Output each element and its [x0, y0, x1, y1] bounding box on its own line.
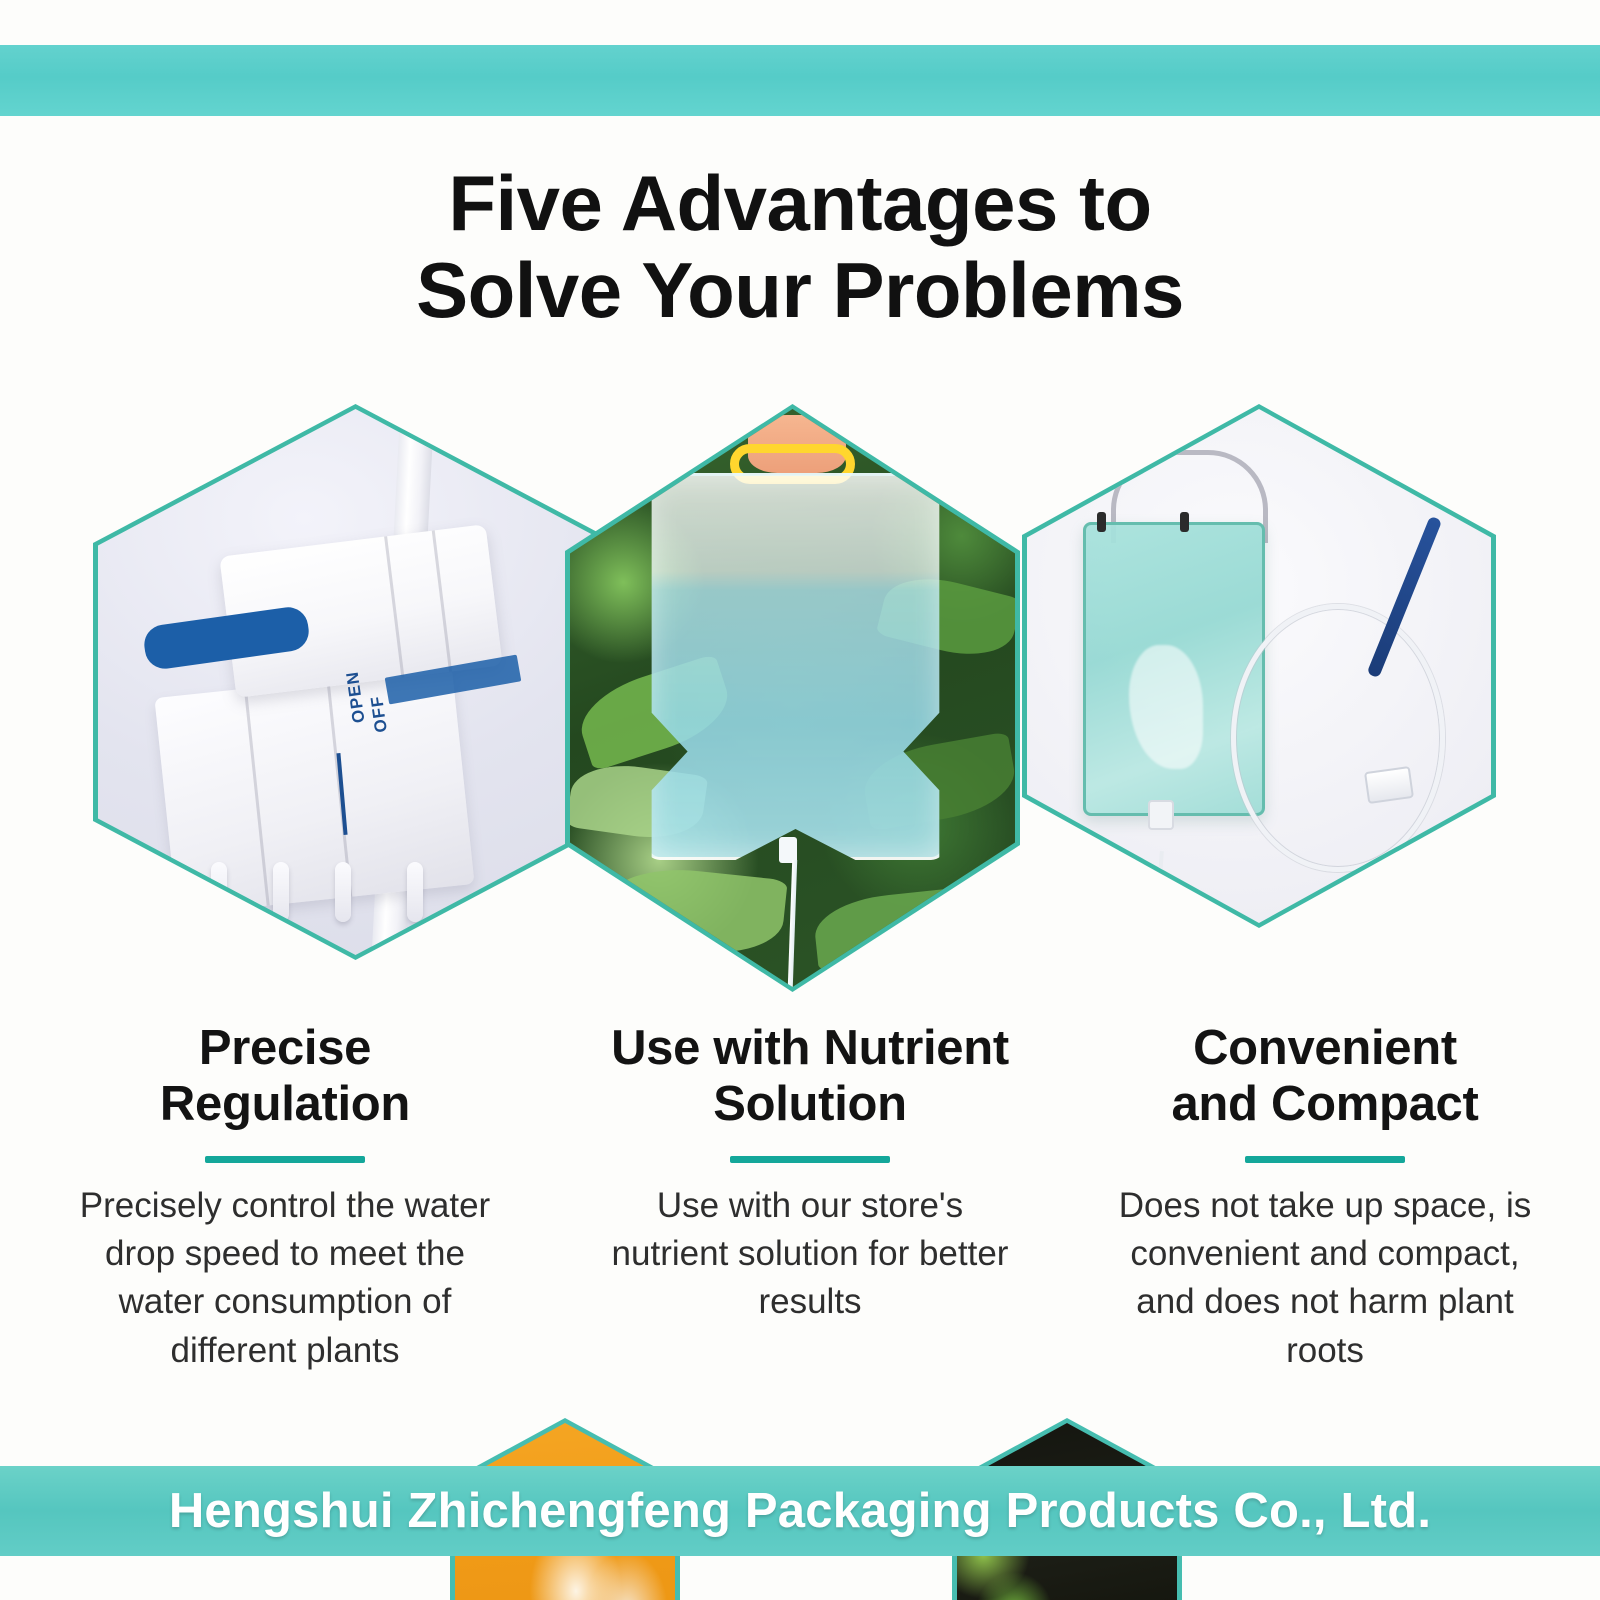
- feature-card-use-with-nutrient-solution: Use with Nutrient Solution Use with our …: [555, 1020, 1065, 1375]
- valve-prong: [211, 862, 227, 922]
- feature-image-precise-regulation[interactable]: OPEN OFF: [93, 404, 618, 960]
- hex-image-clip: OPEN OFF: [98, 409, 613, 955]
- feature-title-line-2: Solution: [595, 1076, 1025, 1132]
- bag-tube-shape: [788, 860, 797, 987]
- feature-description-precise-regulation: Precisely control the water drop speed t…: [70, 1182, 500, 1375]
- leaf-shape: [812, 887, 970, 972]
- headline-line-1: Five Advantages to: [0, 160, 1600, 247]
- bag-spout-shape: [779, 837, 797, 863]
- valve-photo: OPEN OFF: [98, 409, 613, 955]
- feature-description-use-with-nutrient-solution: Use with our store's nutrient solution f…: [595, 1182, 1025, 1327]
- valve-prong: [273, 862, 289, 922]
- feature-image-convenient-and-compact[interactable]: [1022, 404, 1496, 928]
- foliage-photo: [570, 409, 1015, 987]
- page-title: Five Advantages to Solve Your Problems: [0, 160, 1600, 335]
- feature-title-line-2: Regulation: [70, 1076, 500, 1132]
- feature-title-use-with-nutrient-solution: Use with Nutrient Solution: [595, 1020, 1025, 1133]
- company-name: Hengshui Zhichengfeng Packaging Products…: [169, 1483, 1431, 1539]
- feature-title-precise-regulation: Precise Regulation: [70, 1020, 500, 1133]
- drip-kit-photo: [1027, 409, 1491, 923]
- feature-title-line-1: Use with Nutrient: [595, 1020, 1025, 1076]
- feature-title-line-1: Precise: [70, 1020, 500, 1076]
- coiled-tube-shape: [1231, 604, 1444, 871]
- feature-title-line-2: and Compact: [1110, 1076, 1540, 1132]
- water-bag-shape: [646, 473, 946, 860]
- footer-bar: Hengshui Zhichengfeng Packaging Products…: [0, 1466, 1600, 1556]
- feature-list: Precise Regulation Precisely control the…: [0, 1020, 1600, 1375]
- feature-card-convenient-and-compact: Convenient and Compact Does not take up …: [1065, 1020, 1600, 1375]
- title-underline-rule: [730, 1156, 890, 1163]
- title-underline-rule: [1245, 1156, 1405, 1163]
- roller-clamp-shape: [1364, 766, 1414, 804]
- valve-rib: [243, 689, 269, 907]
- feature-title-convenient-and-compact: Convenient and Compact: [1110, 1020, 1540, 1133]
- valve-rib: [432, 530, 452, 671]
- feature-title-line-1: Convenient: [1110, 1020, 1540, 1076]
- leaf-shape: [602, 862, 787, 961]
- feature-description-convenient-and-compact: Does not take up space, is convenient an…: [1110, 1182, 1540, 1375]
- valve-prong: [335, 862, 351, 922]
- valve-rib: [384, 536, 404, 677]
- hang-hole: [1097, 512, 1106, 532]
- drip-tube-shape: [1154, 851, 1164, 923]
- valve-prong: [407, 862, 423, 922]
- valve-lower-body: [154, 667, 474, 915]
- title-underline-rule: [205, 1156, 365, 1163]
- bag-outlet-shape: [1148, 800, 1174, 830]
- hang-hole: [1180, 512, 1189, 532]
- feature-card-precise-regulation: Precise Regulation Precisely control the…: [0, 1020, 555, 1375]
- hex-image-clip: [1027, 409, 1491, 923]
- hex-image-clip: [570, 409, 1015, 987]
- promo-page: Five Advantages to Solve Your Problems: [0, 0, 1600, 1600]
- headline-line-2: Solve Your Problems: [0, 247, 1600, 334]
- feature-image-use-with-nutrient-solution[interactable]: [565, 404, 1020, 992]
- top-accent-bar: [0, 45, 1600, 116]
